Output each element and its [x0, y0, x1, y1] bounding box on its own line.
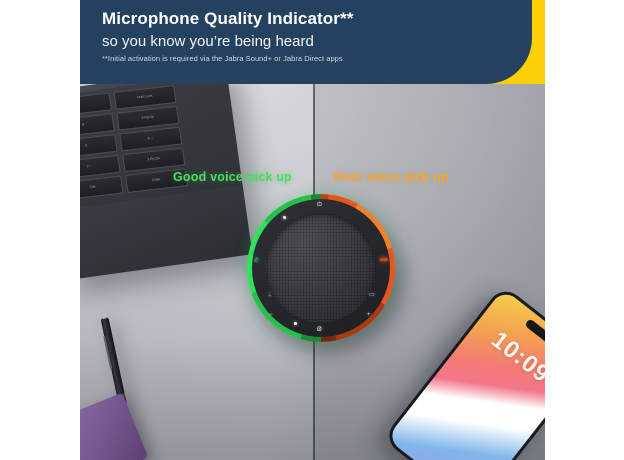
- banner-footnote: **Initial activation is required via the…: [102, 54, 509, 63]
- speaker-grille: [266, 213, 376, 323]
- volume-down-icon[interactable]: −: [269, 312, 273, 318]
- label-poor-voice-pickup: Poor voice pick up: [334, 170, 449, 184]
- phone-notch: [524, 318, 545, 346]
- banner-subtitle: so you know you’re being heard: [102, 33, 509, 50]
- call-icon[interactable]: ✆: [254, 258, 259, 264]
- banner-text-block: Microphone Quality Indicator** so you kn…: [102, 9, 509, 63]
- grille-mesh-texture: [266, 213, 376, 323]
- bluetooth-icon[interactable]: ᛦ: [268, 292, 272, 298]
- led-dot-icon: [283, 216, 286, 219]
- led-dot-icon: [294, 322, 297, 325]
- banner-title: Microphone Quality Indicator**: [102, 9, 509, 29]
- speakerphone-device: ⏻ Ø + − ✆ ᛦ ▭: [247, 194, 395, 342]
- header-banner: Microphone Quality Indicator** so you kn…: [80, 0, 545, 84]
- battery-icon: [380, 258, 388, 261]
- volume-up-icon[interactable]: +: [367, 312, 371, 318]
- screenshot-canvas: · Num Lock 8 9 Pg Up 5 6 → 2 ↓ 3 Pg Dn .…: [0, 0, 624, 460]
- mute-icon[interactable]: Ø: [317, 327, 322, 333]
- keyboard-key: . Del: [80, 176, 124, 201]
- power-icon[interactable]: ⏻: [317, 202, 322, 208]
- link-icon[interactable]: ▭: [369, 292, 375, 298]
- laptop-keyboard: · Num Lock 8 9 Pg Up 5 6 → 2 ↓ 3 Pg Dn .…: [80, 85, 189, 204]
- label-good-voice-pickup: Good voice pick up: [173, 170, 292, 184]
- phone-lockscreen-time: 10:09: [486, 326, 545, 389]
